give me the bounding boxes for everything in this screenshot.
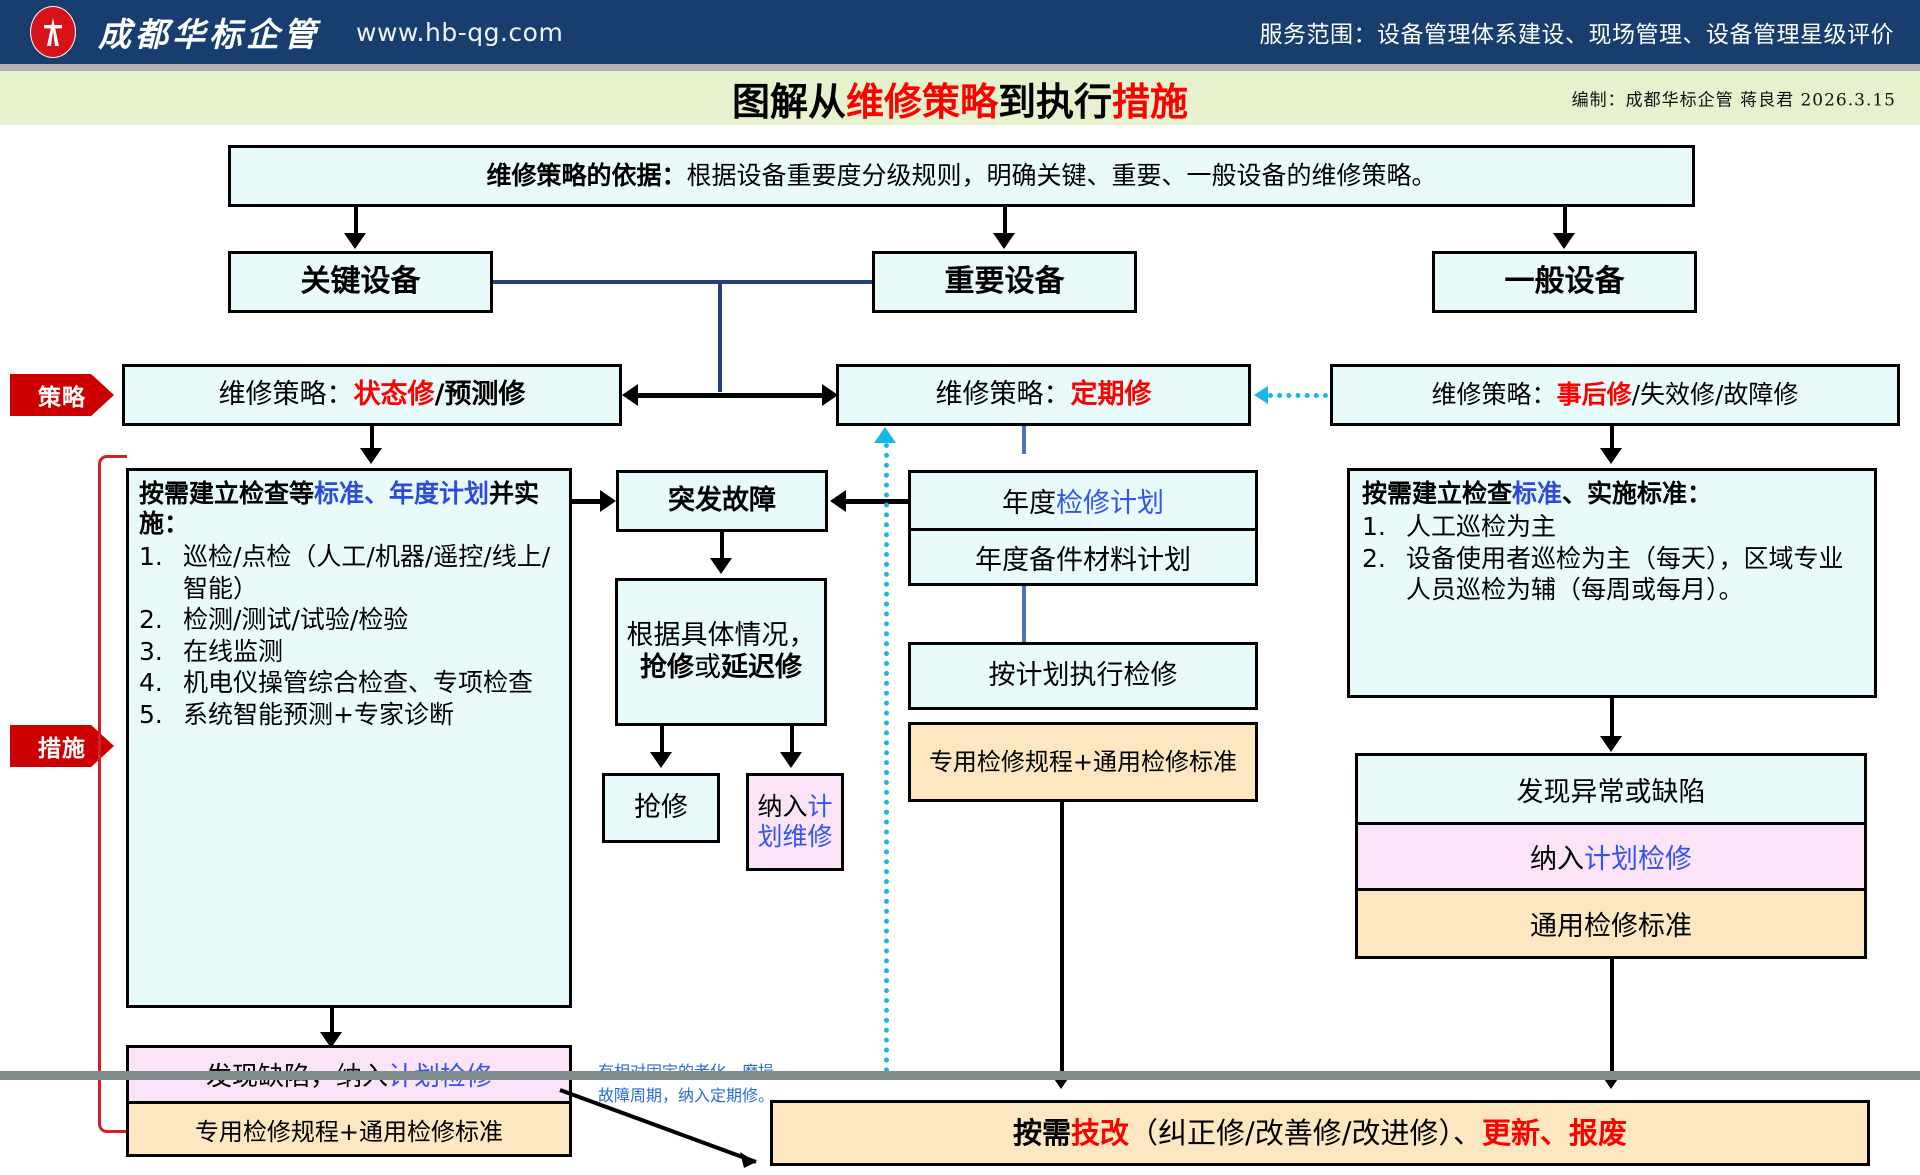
list-item: 1. 巡检/点检（人工/机器/遥控/线上/智能） <box>139 541 559 604</box>
strategy-general-prefix: 维修策略： <box>1432 380 1557 410</box>
bottom-red-2: 更新、报废 <box>1482 1116 1627 1150</box>
connector-right-bottom <box>1610 959 1614 1077</box>
tag-strategy-label: 策略 <box>38 378 86 412</box>
right-outcome-stack: 发现异常或缺陷 纳入计划检修 通用检修标准 <box>1355 753 1867 959</box>
tier-box-important: 重要设备 <box>872 251 1137 313</box>
connector-right-measures-outcome <box>1610 698 1614 740</box>
right-outcome-defect: 发现异常或缺陷 <box>1358 756 1864 822</box>
title-band: 图解从维修策略到执行措施 编制：成都华标企管 蒋良君 2026.3.15 <box>0 71 1920 125</box>
strategy-critical-prefix: 维修策略： <box>219 379 354 411</box>
bottom-action-box: 按需技改（纠正修/改善修/改进修）、更新、报废 <box>770 1100 1870 1166</box>
basis-box: 维修策略的依据：根据设备重要度分级规则，明确关键、重要、一般设备的维修策略。 <box>228 145 1695 207</box>
tag-strategy: 策略 <box>10 374 114 416</box>
list-item: 1. 人工巡检为主 <box>1362 511 1862 543</box>
connector-periodic-execute <box>1022 586 1026 642</box>
tier-box-general: 一般设备 <box>1432 251 1697 313</box>
left-measures-head-b: 标准、年度计划 <box>314 479 489 508</box>
bottom-prefix: 按需 <box>1013 1116 1071 1150</box>
company-logo-icon <box>30 6 76 58</box>
connector-important-periodic <box>1022 426 1026 454</box>
left-measures-list: 1. 巡检/点检（人工/机器/遥控/线上/智能） 2. 检测/测试/试验/检验 … <box>139 541 559 730</box>
tier-box-critical: 关键设备 <box>228 251 493 313</box>
connector-important-down <box>718 280 722 392</box>
left-measures-head-colon: ： <box>164 509 189 538</box>
strategy-critical-rest: /预测修 <box>435 379 526 411</box>
emergency-repair-box: 抢修 <box>602 773 720 843</box>
right-measures-heading: 按需建立检查标准、实施标准： <box>1362 479 1712 509</box>
arrowhead-basis-important <box>993 233 1015 249</box>
arrowhead-feedback-up <box>874 427 896 443</box>
title-part-3: 到执行 <box>998 71 1112 126</box>
arrowhead-handling-planned <box>780 752 802 768</box>
list-item: 2. 设备使用者巡检为主（每天），区域专业人员巡检为辅（每周或每月）。 <box>1362 543 1862 606</box>
tag-measures-label: 措施 <box>38 729 86 763</box>
credit-text: 编制：成都华标企管 蒋良君 2026.3.15 <box>1572 86 1896 111</box>
bottom-red-1: 技改 <box>1071 1116 1129 1150</box>
arrowhead-measures-fault <box>600 490 616 512</box>
connector-strategy-link <box>636 393 822 398</box>
periodic-standard-box: 专用检修规程+通用检修标准 <box>908 722 1258 802</box>
connector-measures-fault <box>572 499 602 504</box>
feedback-note: 有相对固定的老化、磨损、 故障周期，纳入定期修。 <box>598 1060 790 1108</box>
strategy-important-red: 定期修 <box>1071 379 1152 411</box>
left-outcome-stack: 发现缺陷，纳入计划检修 专用检修规程+通用检修标准 <box>126 1045 572 1157</box>
strategy-box-general: 维修策略：事后修/失效修/故障修 <box>1330 364 1900 426</box>
sudden-fault-box: 突发故障 <box>616 470 828 532</box>
diagram-canvas: 维修策略的依据：根据设备重要度分级规则，明确关键、重要、一般设备的维修策略。 关… <box>0 125 1920 1080</box>
list-item: 5. 系统智能预测+专家诊断 <box>139 699 559 731</box>
connector-periodic-bottom <box>1060 802 1064 1077</box>
bottom-middle: （纠正修/改善修/改进修）、 <box>1129 1116 1482 1150</box>
basis-label: 维修策略的依据： <box>486 161 686 191</box>
arrowhead-basis-general <box>1553 233 1575 249</box>
left-outcome-standard: 专用检修规程+通用检修标准 <box>129 1101 569 1154</box>
website-url: www.hb-qg.com <box>356 18 563 47</box>
arrowhead-critical-measures <box>360 448 382 464</box>
arrowhead-periodic-fault <box>830 490 846 512</box>
title-part-4: 措施 <box>1112 71 1188 126</box>
left-measures-head-a: 按需建立检查等 <box>139 479 314 508</box>
fault-handling-text: 根据具体情况，抢修或延迟修 <box>624 620 818 685</box>
strategy-critical-red: 状态修 <box>354 379 435 411</box>
left-measures-heading: 按需建立检查等标准、年度计划并实施： <box>139 479 559 539</box>
arrowhead-general-measures <box>1600 448 1622 464</box>
periodic-plan-stack: 年度检修计划 年度备件材料计划 <box>908 470 1258 586</box>
right-measures-box: 按需建立检查标准、实施标准： 1. 人工巡检为主 2. 设备使用者巡检为主（每天… <box>1347 468 1877 698</box>
left-measures-box: 按需建立检查等标准、年度计划并实施： 1. 巡检/点检（人工/机器/遥控/线上/… <box>126 468 572 1008</box>
arrowhead-general-important-dotted <box>1254 386 1268 404</box>
planned-repair-box: 纳入计划维修 <box>746 773 844 871</box>
arrowhead-strategy-left <box>622 384 638 406</box>
basis-text: 根据设备重要度分级规则，明确关键、重要、一般设备的维修策略。 <box>687 161 1437 191</box>
tier-label-important: 重要设备 <box>945 264 1065 299</box>
strategy-important-prefix: 维修策略： <box>936 379 1071 411</box>
strategy-general-red: 事后修 <box>1557 380 1632 410</box>
execute-plan-box: 按计划执行检修 <box>908 642 1258 710</box>
right-outcome-standard: 通用检修标准 <box>1358 888 1864 956</box>
strategy-general-rest: /失效修/故障修 <box>1632 380 1799 410</box>
measures-bracket <box>98 455 127 1133</box>
strategy-box-important: 维修策略：定期修 <box>836 364 1251 426</box>
annual-overhaul-plan: 年度检修计划 <box>911 473 1255 528</box>
connector-general-important-dotted <box>1268 393 1328 398</box>
connector-critical-important <box>493 280 872 284</box>
app-header: 成都华标企管 www.hb-qg.com 服务范围：设备管理体系建设、现场管理、… <box>0 0 1920 64</box>
brand-name: 成都华标企管 <box>98 8 320 56</box>
list-item: 2. 检测/测试/试验/检验 <box>139 604 559 636</box>
fault-handling-box: 根据具体情况，抢修或延迟修 <box>615 578 827 726</box>
annual-spares-plan: 年度备件材料计划 <box>911 528 1255 583</box>
arrowhead-strategy-right <box>822 384 838 406</box>
arrowhead-basis-critical <box>344 233 366 249</box>
tier-label-critical: 关键设备 <box>301 264 421 299</box>
list-item: 4. 机电仪操管综合检查、专项检查 <box>139 667 559 699</box>
arrowhead-fault-handling <box>710 558 732 574</box>
right-measures-list: 1. 人工巡检为主 2. 设备使用者巡检为主（每天），区域专业人员巡检为辅（每周… <box>1362 511 1862 606</box>
feedback-dotted-line <box>884 443 889 1073</box>
title-part-1: 图解从 <box>732 71 846 126</box>
arrowhead-handling-emergency <box>650 752 672 768</box>
service-scope: 服务范围：设备管理体系建设、现场管理、设备管理星级评价 <box>1260 15 1895 49</box>
title-part-2: 维修策略 <box>846 71 998 126</box>
arrowhead-right-measures-outcome <box>1600 736 1622 752</box>
connector-periodic-fault <box>846 499 908 504</box>
tier-label-general: 一般设备 <box>1505 264 1625 299</box>
footer-bar <box>0 1071 1920 1080</box>
right-outcome-plan: 纳入计划检修 <box>1358 822 1864 888</box>
list-item: 3. 在线监测 <box>139 636 559 668</box>
strategy-box-critical: 维修策略：状态修/预测修 <box>122 364 622 426</box>
